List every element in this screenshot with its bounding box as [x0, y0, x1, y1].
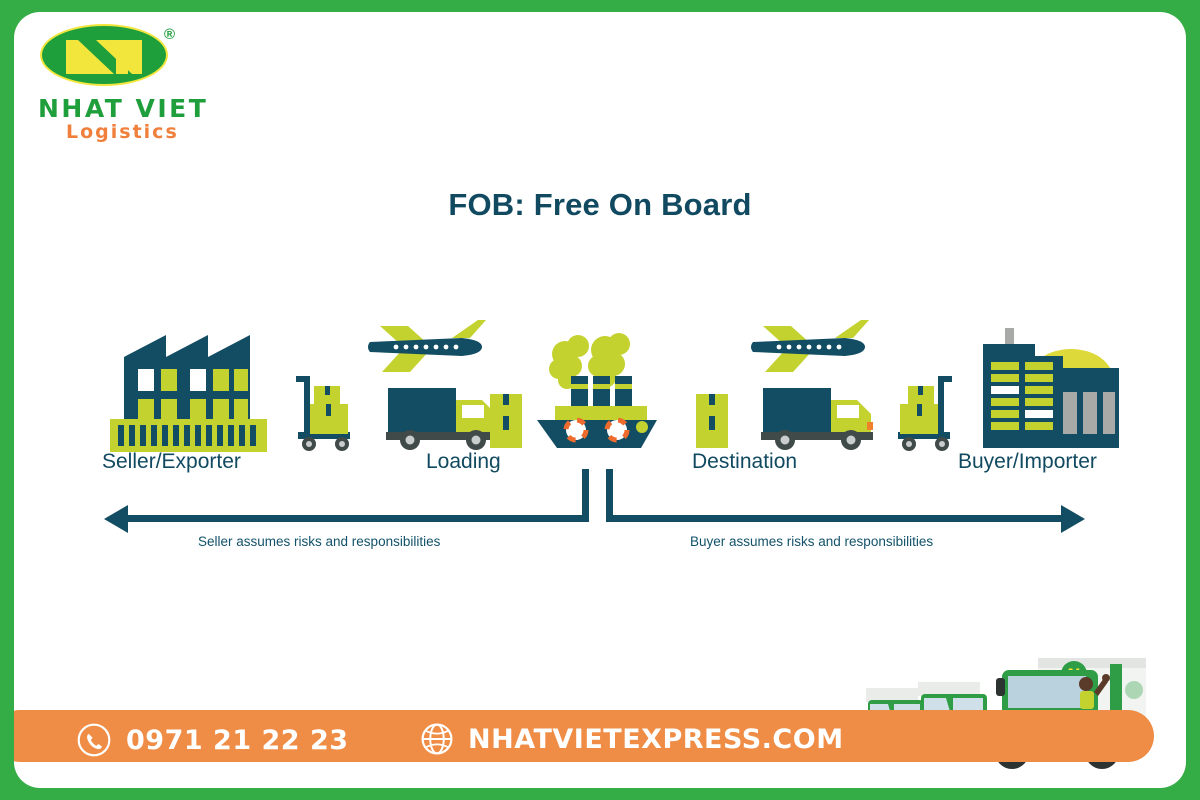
globe-icon — [419, 721, 455, 757]
website-contact[interactable]: NHATVIETEXPRESS.COM — [419, 721, 844, 757]
phone-contact[interactable]: 0971 21 22 23 — [76, 722, 349, 758]
truck-icon — [759, 382, 879, 452]
green-border-frame: ® NHAT VIET Logistics FOB: Free On Board — [0, 0, 1200, 800]
seller-risk-caption: Seller assumes risks and responsibilitie… — [198, 534, 440, 549]
stage-label-loading: Loading — [426, 450, 501, 474]
factory-icon — [106, 327, 271, 452]
logo-company-name: NHAT VIET — [38, 94, 216, 123]
page-title: FOB: Free On Board — [14, 187, 1186, 223]
fob-diagram: Seller/Exporter Loading Destination Buye… — [14, 302, 1186, 572]
stage-labels: Seller/Exporter Loading Destination Buye… — [14, 450, 1186, 486]
handtruck-icon — [290, 370, 358, 452]
registered-trademark-icon: ® — [164, 26, 175, 43]
stage-label-destination: Destination — [692, 450, 797, 474]
buyer-arrow-stem — [606, 469, 613, 515]
stage-label-buyer: Buyer/Importer — [958, 450, 1097, 474]
handtruck-icon — [890, 370, 958, 452]
logo-mark: ® — [40, 20, 190, 92]
icon-row — [14, 302, 1186, 452]
airplane-icon — [749, 318, 869, 380]
buyer-arrowhead-icon — [1061, 505, 1085, 533]
content-card: ® NHAT VIET Logistics FOB: Free On Board — [14, 12, 1186, 788]
phone-icon — [76, 722, 112, 758]
company-logo[interactable]: ® NHAT VIET Logistics — [36, 20, 216, 150]
building-icon — [959, 324, 1124, 452]
seller-arrow-stem — [582, 469, 589, 515]
buyer-arrow-line — [606, 515, 1068, 522]
phone-number: 0971 21 22 23 — [126, 725, 349, 756]
seller-arrow-line — [127, 515, 589, 522]
seller-arrowhead-icon — [104, 505, 128, 533]
buyer-risk-caption: Buyer assumes risks and responsibilities — [690, 534, 933, 549]
stage-label-seller: Seller/Exporter — [102, 450, 241, 474]
box-icon — [690, 390, 734, 452]
airplane-icon — [366, 318, 486, 380]
risk-transfer-arrows — [14, 502, 1186, 536]
ship-icon — [529, 324, 664, 452]
website-url: NHATVIETEXPRESS.COM — [468, 724, 844, 755]
logo-letter-n-icon — [40, 22, 170, 92]
logo-tagline: Logistics — [66, 121, 216, 143]
box-icon — [484, 390, 528, 452]
